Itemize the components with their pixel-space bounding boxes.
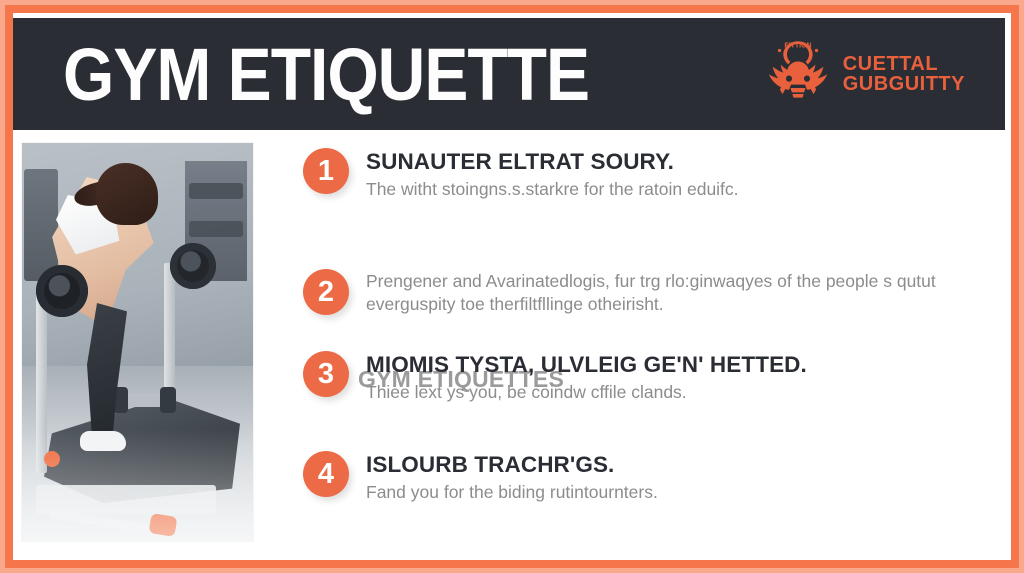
list-item-title: MIOMIS TYSTA, ULVLEIG GE'N' HETTED.: [366, 352, 807, 377]
list-item-description: The witht stoingns.s.starkre for the rat…: [366, 178, 739, 201]
list-item-description: Fand you for the biding rutintournters.: [366, 481, 658, 504]
list-item-text: SUNAUTER ELTRAT SOURY. The witht stoingn…: [349, 148, 739, 201]
brand-line-1: CUETTAL: [843, 54, 965, 74]
header-bar: GYM ETIQUETTE FITTION: [13, 18, 1005, 130]
brand-lockup: FITTION CUETTAL GUBGUITTY: [761, 37, 987, 111]
poster: GYM ETIQUETTE FITTION: [0, 0, 1024, 573]
list-item: 4 ISLOURB TRACHR'GS. Fand you for the bi…: [303, 451, 658, 504]
brand-line-2: GUBGUITTY: [843, 74, 965, 94]
poster-card: GYM ETIQUETTE FITTION: [13, 13, 1011, 560]
page-title: GYM ETIQUETTE: [63, 37, 589, 111]
list-number-badge: 1: [303, 148, 349, 194]
body-area: 1 SUNAUTER ELTRAT SOURY. The witht stoin…: [13, 130, 1011, 560]
gym-photo: [22, 143, 253, 541]
list-item-text: ISLOURB TRACHR'GS. Fand you for the bidi…: [349, 451, 658, 504]
brand-badge-text: FITTION: [784, 43, 811, 50]
list-item-text: Prengener and Avarinatedlogis, fur trg r…: [349, 269, 996, 317]
phoenix-eagle-emblem-icon: FITTION: [761, 37, 835, 111]
list-item: 1 SUNAUTER ELTRAT SOURY. The witht stoin…: [303, 148, 739, 201]
list-item: 3 MIOMIS TYSTA, ULVLEIG GE'N' HETTED. Th…: [303, 351, 807, 404]
list-number-badge: 2: [303, 269, 349, 315]
list-item-description: Thiee lext ys you, be coindw cffile clan…: [366, 381, 807, 404]
list-item-description: Prengener and Avarinatedlogis, fur trg r…: [366, 270, 996, 317]
list-number-badge: 3: [303, 351, 349, 397]
list-item-title: ISLOURB TRACHR'GS.: [366, 452, 658, 477]
etiquette-list: 1 SUNAUTER ELTRAT SOURY. The witht stoin…: [295, 130, 997, 560]
brand-text: CUETTAL GUBGUITTY: [843, 54, 965, 95]
list-item: 2 Prengener and Avarinatedlogis, fur trg…: [303, 269, 996, 317]
list-item-title: SUNAUTER ELTRAT SOURY.: [366, 149, 739, 174]
list-item-text: MIOMIS TYSTA, ULVLEIG GE'N' HETTED. Thie…: [349, 351, 807, 404]
list-number-badge: 4: [303, 451, 349, 497]
